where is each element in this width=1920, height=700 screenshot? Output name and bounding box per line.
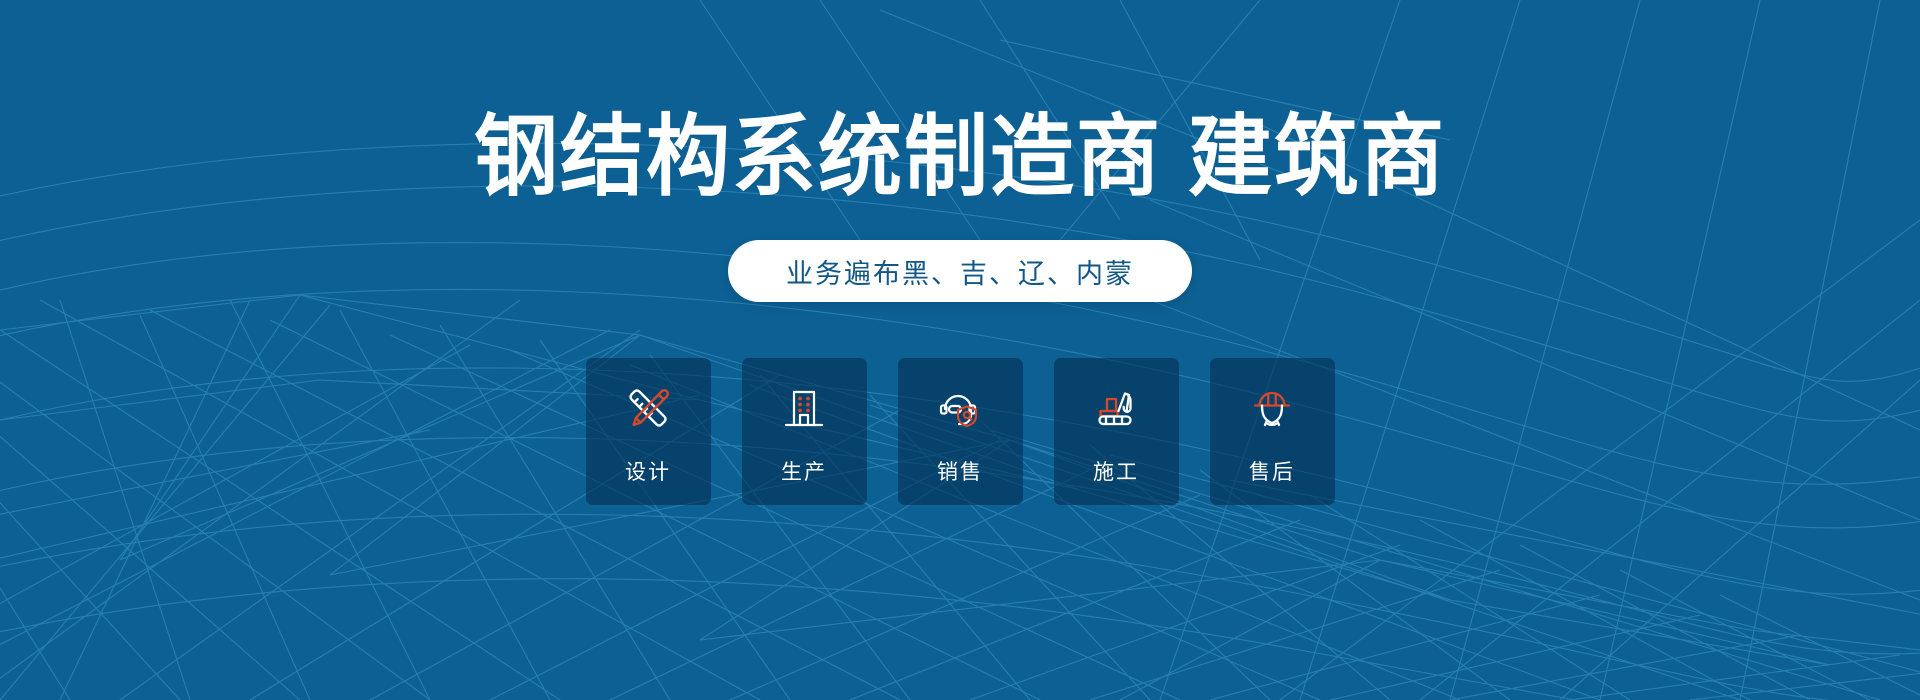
service-card-aftersales[interactable]: 售后 bbox=[1210, 358, 1335, 505]
page-title: 钢结构系统制造商建筑商 bbox=[474, 112, 1446, 201]
coverage-badge: 业务遍布黑、吉、辽、内蒙 bbox=[728, 240, 1192, 302]
factory-building-icon bbox=[778, 382, 830, 434]
service-card-sales[interactable]: 销售 bbox=[898, 358, 1023, 505]
pencil-ruler-icon bbox=[622, 382, 674, 434]
service-card-list: 设计 生产 bbox=[586, 358, 1335, 505]
headset-shield-icon bbox=[934, 382, 986, 434]
service-card-label: 生产 bbox=[781, 456, 827, 486]
service-card-label: 施工 bbox=[1093, 456, 1139, 486]
hero-banner: 钢结构系统制造商建筑商 业务遍布黑、吉、辽、内蒙 bbox=[0, 0, 1920, 700]
banner-content: 钢结构系统制造商建筑商 业务遍布黑、吉、辽、内蒙 bbox=[0, 0, 1920, 700]
service-card-construction[interactable]: 施工 bbox=[1054, 358, 1179, 505]
service-card-production[interactable]: 生产 bbox=[742, 358, 867, 505]
service-card-label: 设计 bbox=[625, 456, 671, 486]
headline-secondary: 建筑商 bbox=[1188, 107, 1446, 207]
service-card-label: 售后 bbox=[1249, 456, 1295, 486]
hard-hat-icon bbox=[1246, 382, 1298, 434]
service-card-label: 销售 bbox=[937, 456, 983, 486]
headline-primary: 钢结构系统制造商 bbox=[474, 107, 1162, 207]
excavator-icon bbox=[1090, 382, 1142, 434]
coverage-badge-label: 业务遍布黑、吉、辽、内蒙 bbox=[786, 252, 1134, 291]
service-card-design[interactable]: 设计 bbox=[586, 358, 711, 505]
